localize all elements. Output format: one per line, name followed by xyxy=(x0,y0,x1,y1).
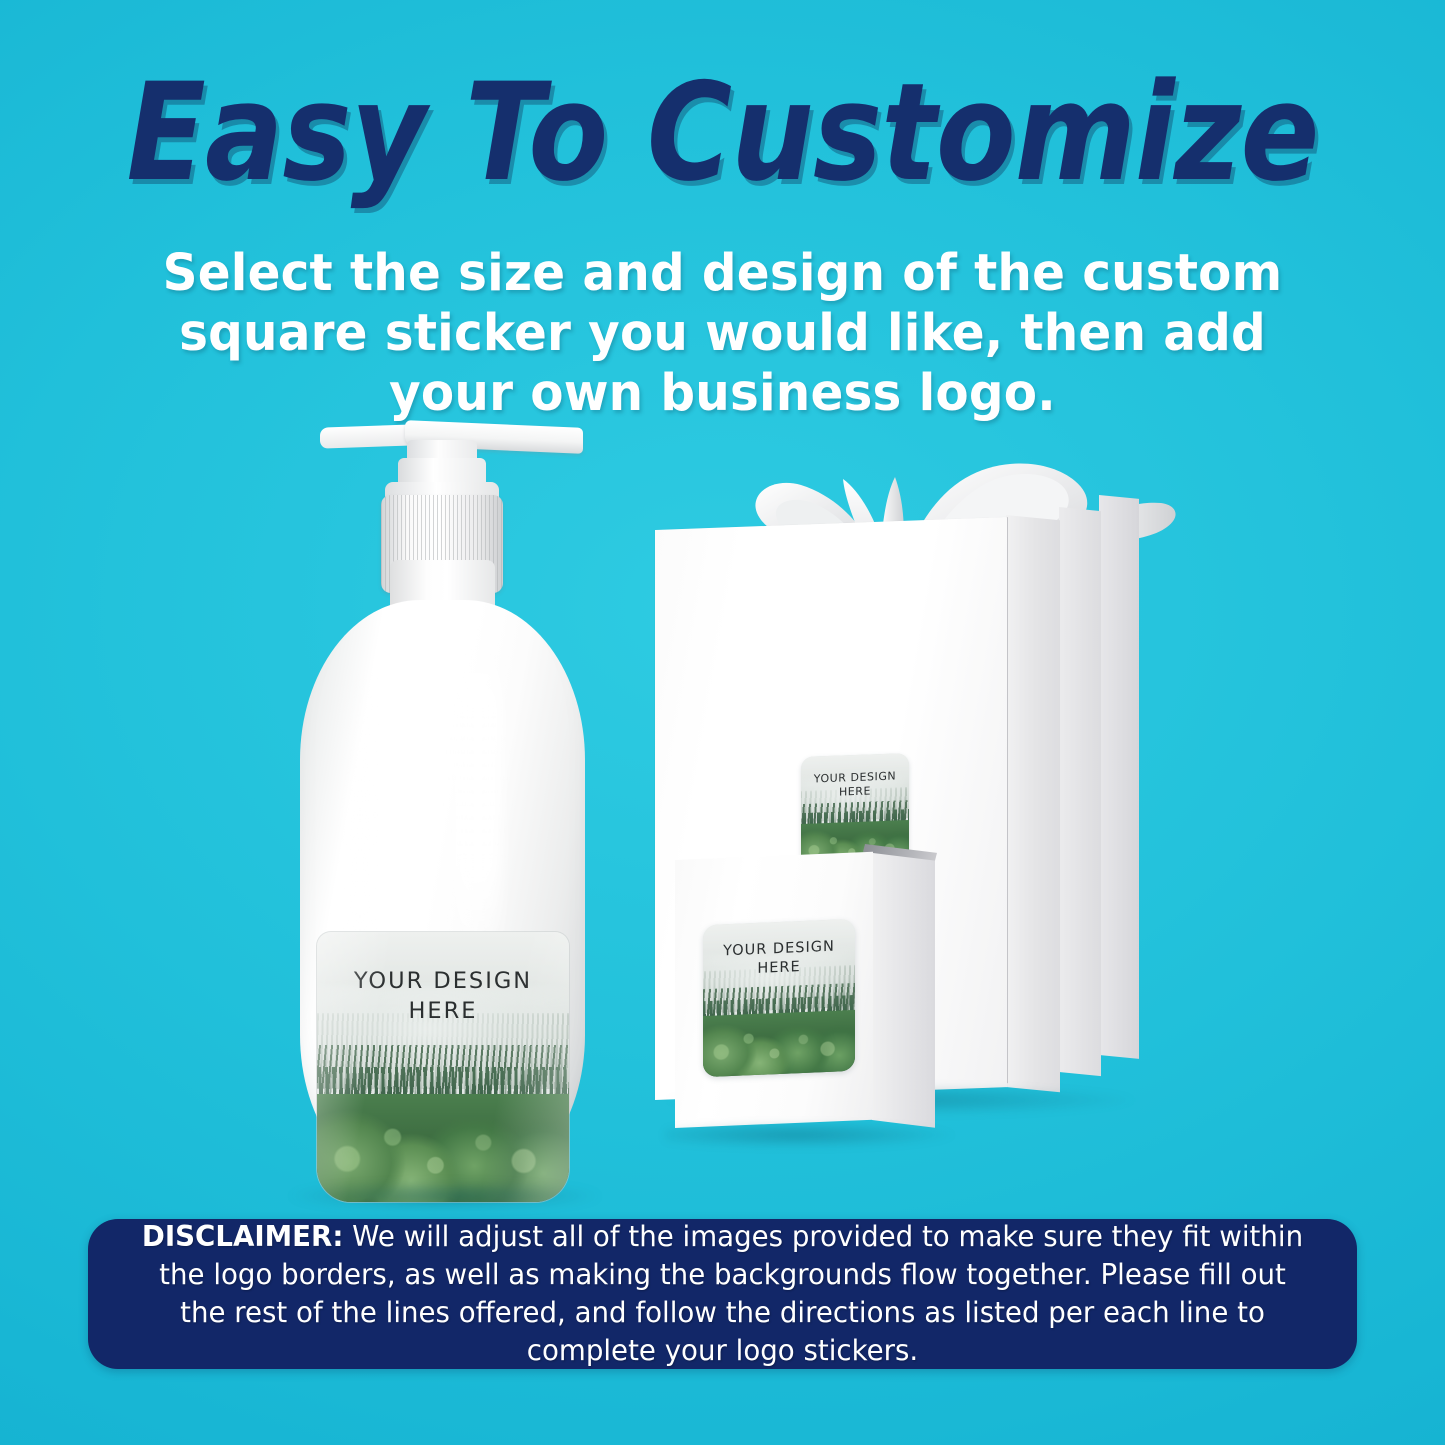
disclaimer-box: DISCLAIMER: We will adjust all of the im… xyxy=(88,1219,1357,1369)
pump-bottle-mockup: YOUR DESIGN HERE xyxy=(285,420,605,1210)
disclaimer-text: DISCLAIMER: We will adjust all of the im… xyxy=(132,1218,1312,1370)
sticker-caption-line-1: YOUR DESIGN xyxy=(317,967,569,997)
sticker-caption: YOUR DESIGN HERE xyxy=(703,937,855,982)
bottle-shadow xyxy=(285,1182,605,1210)
small-box-mockup: YOUR DESIGN HERE xyxy=(675,850,965,1150)
label-on-bottle: YOUR DESIGN HERE xyxy=(317,932,569,1202)
bottle-highlight-left xyxy=(347,670,373,960)
gift-box-mid-panel xyxy=(1059,507,1101,1076)
disclaimer-label: DISCLAIMER: xyxy=(142,1220,343,1253)
page-title: Easy To Customize xyxy=(101,64,1344,202)
gift-box-back-panel xyxy=(1099,495,1139,1059)
sticker-caption: YOUR DESIGN HERE xyxy=(801,769,909,802)
promo-banner: Easy To Customize Select the size and de… xyxy=(0,0,1445,1445)
sticker-caption: YOUR DESIGN HERE xyxy=(317,967,569,1026)
product-mockup-scene: YOUR DESIGN HERE YOUR DESIGN xyxy=(0,380,1445,1210)
bottle-highlight-right xyxy=(455,635,501,965)
small-box-side-panel xyxy=(872,848,935,1128)
sticker-caption-line-2: HERE xyxy=(317,997,569,1027)
gift-box-side-panel xyxy=(1006,515,1060,1092)
small-box-shadow xyxy=(665,1122,955,1148)
sticker-on-small-box: YOUR DESIGN HERE xyxy=(703,919,855,1077)
pump-spout-left xyxy=(320,424,415,448)
